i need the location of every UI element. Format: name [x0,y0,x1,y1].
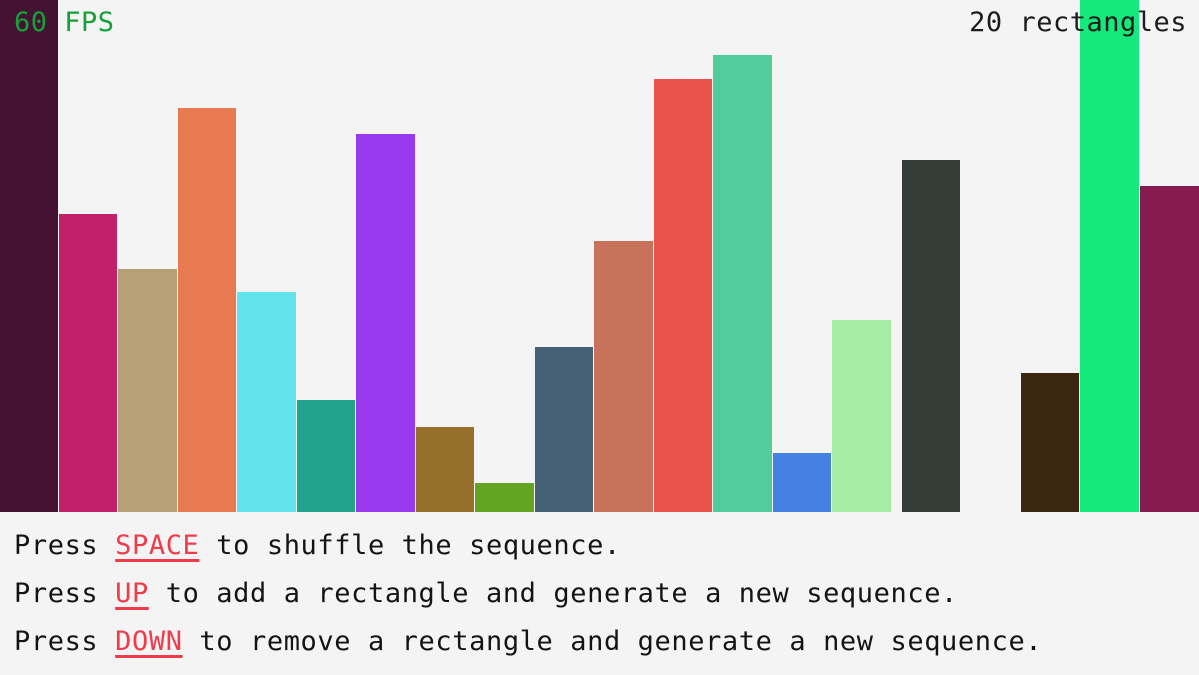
chart-bar [832,320,891,512]
rectangle-count-label: 20 rectangles [969,8,1187,38]
key-hint-down[interactable]: DOWN [115,626,182,657]
key-hint-space[interactable]: SPACE [115,530,199,561]
rectangle-sequence-app: 60 FPS 20 rectangles Press SPACE to shuf… [0,0,1199,675]
chart-bar [773,453,831,512]
key-hint-up[interactable]: UP [115,578,149,609]
instruction-prefix: Press [14,530,115,561]
instruction-suffix: to add a rectangle and generate a new se… [149,578,958,609]
instruction-line-3: Press DOWN to remove a rectangle and gen… [0,618,1199,666]
instruction-suffix: to shuffle the sequence. [199,530,620,561]
chart-bar [416,427,474,512]
chart-bar [654,79,712,512]
bar-chart-canvas[interactable] [0,0,1199,512]
instruction-line-2: Press UP to add a rectangle and generate… [0,570,1199,618]
chart-bar [1021,373,1079,512]
chart-bar [475,483,534,512]
chart-bar [594,241,653,512]
chart-bar [1080,0,1139,512]
instructions-panel: Press SPACE to shuffle the sequence.Pres… [0,512,1199,675]
chart-bar [237,292,296,512]
chart-bar [0,0,58,512]
chart-bar [1140,186,1199,512]
chart-bar [535,347,593,512]
chart-bar [902,160,960,512]
instruction-prefix: Press [14,578,115,609]
instruction-suffix: to remove a rectangle and generate a new… [183,626,1043,657]
instruction-line-1: Press SPACE to shuffle the sequence. [0,522,1199,570]
chart-bar [118,269,177,512]
chart-bar [59,214,117,512]
instruction-prefix: Press [14,626,115,657]
fps-counter: 60 FPS [14,8,115,38]
chart-bar [356,134,415,512]
chart-bar [713,55,772,512]
chart-bar [178,108,236,512]
chart-bar [297,400,355,512]
